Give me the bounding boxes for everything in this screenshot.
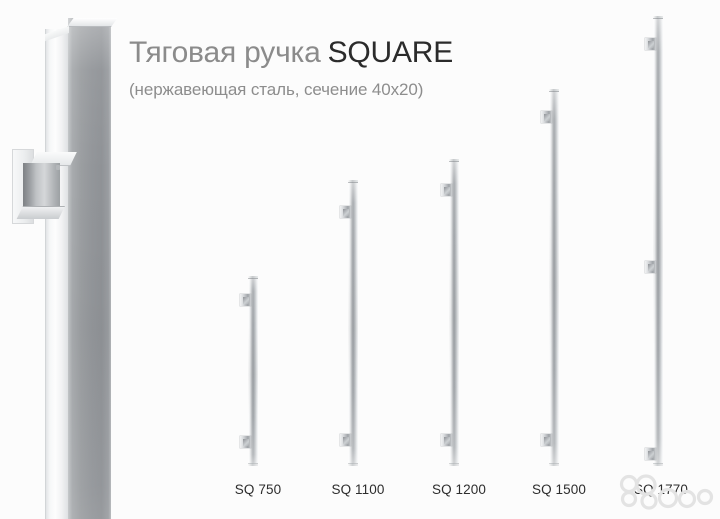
bracket-top bbox=[340, 206, 351, 218]
bracket-bottom bbox=[441, 434, 452, 446]
bracket-bottom bbox=[541, 434, 552, 446]
handle-sq-1770 bbox=[653, 16, 663, 466]
bracket-screw bbox=[56, 165, 60, 170]
label-sq-750: SQ 750 bbox=[213, 482, 303, 497]
heading-block: Тяговая ручкаSQUARE (нержавеющая сталь, … bbox=[129, 34, 549, 101]
label-sq-1500: SQ 1500 bbox=[512, 482, 606, 497]
bar-cap-top bbox=[653, 16, 663, 19]
bar-sheen bbox=[549, 89, 559, 466]
featured-handle-sheen bbox=[68, 18, 111, 519]
bar-cap-bottom bbox=[248, 463, 258, 466]
bracket-bottom bbox=[240, 436, 251, 448]
bracket-top bbox=[240, 294, 251, 306]
featured-handle-left-facet bbox=[45, 29, 68, 519]
label-sq-1100: SQ 1100 bbox=[311, 482, 405, 497]
bar-sheen bbox=[348, 180, 358, 466]
bar-cap-bottom bbox=[348, 463, 358, 466]
bar-sheen bbox=[653, 16, 663, 466]
page-title: Тяговая ручкаSQUARE bbox=[129, 34, 549, 72]
bar-cap-top bbox=[449, 159, 459, 162]
handle-sq-1500 bbox=[549, 89, 559, 466]
handle-sq-1100 bbox=[348, 180, 358, 466]
handle-sq-1200 bbox=[449, 159, 459, 466]
bracket-inner-shadow bbox=[23, 163, 36, 211]
title-russian: Тяговая ручка bbox=[129, 36, 321, 69]
product-image: Тяговая ручкаSQUARE (нержавеющая сталь, … bbox=[0, 0, 720, 519]
bar-cap-bottom bbox=[653, 463, 663, 466]
handle-sq-750 bbox=[248, 276, 258, 466]
bar-cap-top bbox=[248, 276, 258, 279]
bar-cap-bottom bbox=[549, 463, 559, 466]
bar-cap-top bbox=[549, 89, 559, 92]
featured-handle bbox=[45, 18, 111, 519]
featured-handle-top-bevel bbox=[45, 18, 111, 34]
bracket-top bbox=[441, 184, 452, 196]
bracket-top bbox=[645, 38, 656, 50]
bracket-middle bbox=[645, 261, 656, 273]
featured-handle-bracket bbox=[12, 149, 70, 224]
bar-cap-bottom bbox=[449, 463, 459, 466]
bracket-top bbox=[541, 111, 552, 123]
label-sq-1200: SQ 1200 bbox=[412, 482, 506, 497]
bracket-arm-bottom bbox=[17, 206, 65, 219]
subtitle: (нержавеющая сталь, сечение 40x20) bbox=[129, 79, 549, 101]
bar-sheen bbox=[449, 159, 459, 466]
bracket-bottom bbox=[340, 434, 351, 446]
label-sq-1770: SQ 1770 bbox=[614, 482, 708, 497]
bevel-top-plate bbox=[67, 18, 118, 27]
bar-cap-top bbox=[348, 180, 358, 183]
featured-handle-front-face bbox=[68, 18, 111, 519]
title-model: SQUARE bbox=[328, 36, 454, 69]
bracket-bottom bbox=[645, 448, 656, 460]
